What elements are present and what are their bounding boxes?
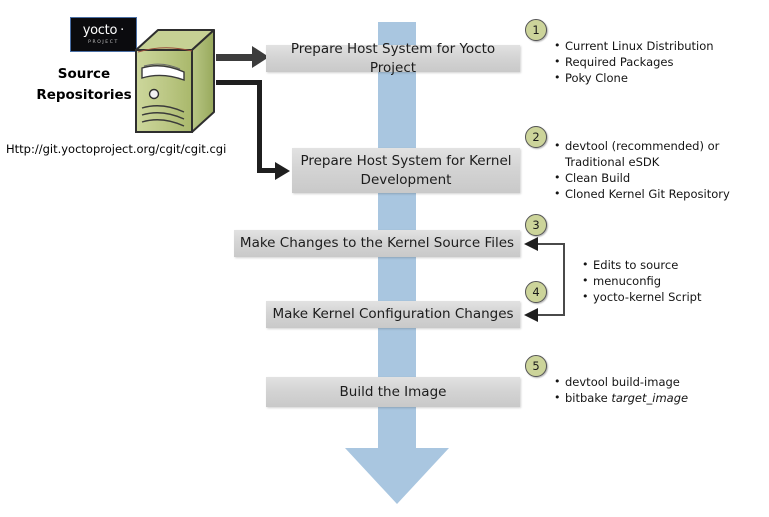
yocto-logo-dot: ·: [120, 23, 124, 38]
bullet-item: Cloned Kernel Git Repository: [554, 186, 764, 202]
yocto-logo-subtitle: PROJECT: [88, 39, 119, 46]
bracket-connector-to-step4: [536, 314, 564, 316]
bracket-arrowhead-step3: [524, 237, 538, 251]
process-box-step-3[interactable]: Make Changes to the Kernel Source Files: [234, 230, 520, 257]
bullet-list-step-2: devtool (recommended) or Traditional eSD…: [554, 138, 764, 202]
step-number-badge-4: 4: [525, 281, 547, 303]
bullet-list-step-1: Current Linux DistributionRequired Packa…: [554, 38, 764, 86]
bullet-item: menuconfig: [582, 273, 762, 289]
process-box-step-5[interactable]: Build the Image: [266, 377, 520, 407]
bullet-item: devtool (recommended) or Traditional eSD…: [554, 138, 764, 170]
bullet-text: bitbake: [565, 391, 611, 405]
source-repositories-label: Source Repositories: [28, 64, 140, 106]
bullet-item: Edits to source: [582, 257, 762, 273]
step-number-badge-1: 1: [525, 19, 547, 41]
bullet-item: Required Packages: [554, 54, 764, 70]
bullet-item: bitbake target_image: [554, 390, 764, 406]
bullet-item: Poky Clone: [554, 70, 764, 86]
process-box-step-2[interactable]: Prepare Host System for Kernel Developme…: [292, 148, 520, 193]
step-number-badge-2: 2: [525, 126, 547, 148]
process-box-step-1[interactable]: Prepare Host System for Yocto Project: [266, 45, 520, 72]
bracket-connector-to-step3: [536, 243, 564, 245]
bullet-emphasis: target_image: [611, 391, 688, 405]
bullet-item: Current Linux Distribution: [554, 38, 764, 54]
bullet-item: yocto-kernel Script: [582, 289, 762, 305]
server-tower-icon: [132, 28, 218, 138]
bracket-arrowhead-step4: [524, 308, 538, 322]
source-label-line2: Repositories: [28, 85, 140, 106]
source-repository-url: Http://git.yoctoproject.org/cgit/cgit.cg…: [6, 142, 226, 156]
bullet-item: devtool build-image: [554, 374, 764, 390]
flow-arrow-head: [345, 448, 449, 504]
bracket-connector-vertical: [563, 243, 565, 316]
bullet-list-steps-3-and-4: Edits to sourcemenuconfigyocto-kernel Sc…: [582, 257, 762, 305]
connector-server-to-step2-segment-vertical: [257, 80, 262, 173]
diagram-canvas: yocto · PROJECT: [0, 0, 769, 517]
yocto-project-logo: yocto · PROJECT: [70, 17, 137, 52]
step-number-badge-5: 5: [525, 355, 547, 377]
bullet-list-step-5: devtool build-imagebitbake target_image: [554, 374, 764, 406]
yocto-logo-word: yocto: [83, 24, 117, 37]
source-label-line1: Source: [28, 64, 140, 85]
bullet-item: Clean Build: [554, 170, 764, 186]
step-number-badge-3: 3: [525, 214, 547, 236]
process-box-step-4[interactable]: Make Kernel Configuration Changes: [266, 301, 520, 328]
connector-server-to-step2-arrowhead: [275, 162, 290, 180]
connector-server-to-step2-segment-horizontal-top: [216, 80, 262, 85]
